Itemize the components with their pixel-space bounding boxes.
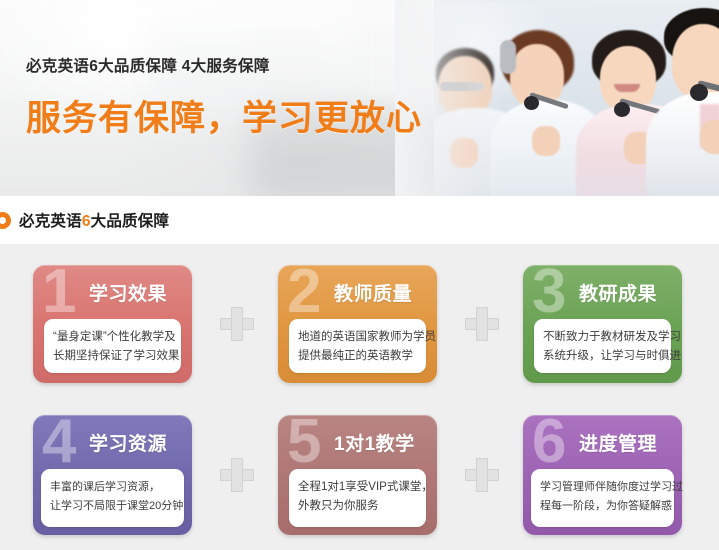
- smile: [614, 84, 640, 92]
- hero-subtitle: 必克英语6大品质保障 4大服务保障: [26, 54, 422, 76]
- page-root: 必克英语6大品质保障 4大服务保障 服务有保障，学习更放心 必克英语6大品质保障…: [0, 0, 719, 550]
- card-body-line-1: 不断致力于教材研发及学习: [543, 328, 662, 347]
- card-body: “量身定课”个性化教学及 长期坚持保证了学习效果: [44, 319, 181, 373]
- card-title: 1对1教学: [334, 429, 415, 456]
- card-body: 地道的英语国家教师为学员 提供最纯正的英语教学: [289, 319, 426, 373]
- section-title: 必克英语6大品质保障: [19, 209, 169, 231]
- card-title: 学习资源: [89, 429, 167, 456]
- card-title: 进度管理: [579, 429, 657, 456]
- plus-icon: [220, 307, 254, 341]
- orange-ring-icon: [0, 212, 11, 229]
- section-title-prefix: 必克英语: [19, 213, 82, 230]
- section-header-row: 必克英语6大品质保障: [0, 209, 169, 231]
- microphone-icon: [690, 84, 708, 101]
- card-title: 教师质量: [334, 279, 412, 306]
- card-body-line-2: 让学习不局限于课堂20分钟: [50, 497, 175, 516]
- card-body-line-2: 提供最纯正的英语教学: [298, 347, 417, 366]
- benefit-card-4[interactable]: 4 学习资源 丰富的课后学习资源， 让学习不局限于课堂20分钟: [33, 415, 192, 535]
- card-number: 1: [42, 261, 76, 323]
- card-number: 6: [532, 411, 566, 473]
- section-header: 必克英语6大品质保障: [0, 196, 719, 244]
- benefit-card-1[interactable]: 1 学习效果 “量身定课”个性化教学及 长期坚持保证了学习效果: [33, 265, 192, 383]
- card-number: 3: [532, 261, 566, 323]
- hero-banner: 必克英语6大品质保障 4大服务保障 服务有保障，学习更放心: [0, 0, 719, 196]
- card-number: 4: [42, 411, 76, 473]
- section-title-number: 6: [82, 213, 91, 230]
- plus-icon: [465, 458, 499, 492]
- card-body-line-2: 系统升级，让学习与时俱进: [543, 347, 662, 366]
- plus-icon: [465, 307, 499, 341]
- hand: [532, 126, 560, 156]
- card-body: 全程1对1享受VIP式课堂， 外教只为你服务: [289, 469, 426, 527]
- card-title: 教研成果: [579, 279, 657, 306]
- hero-text-block: 必克英语6大品质保障 4大服务保障 服务有保障，学习更放心: [26, 54, 422, 141]
- plus-icon: [220, 458, 254, 492]
- microphone-icon: [524, 96, 539, 110]
- benefit-card-3[interactable]: 3 教研成果 不断致力于教材研发及学习 系统升级，让学习与时俱进: [523, 265, 682, 383]
- hero-title: 服务有保障，学习更放心: [26, 90, 422, 141]
- card-body-line-1: 地道的英语国家教师为学员: [298, 328, 417, 347]
- card-body-line-1: 丰富的课后学习资源，: [50, 478, 175, 497]
- benefit-card-2[interactable]: 2 教师质量 地道的英语国家教师为学员 提供最纯正的英语教学: [278, 265, 437, 383]
- card-number: 2: [287, 261, 321, 323]
- card-body: 不断致力于教材研发及学习 系统升级，让学习与时俱进: [534, 319, 671, 373]
- section-title-suffix: 大品质保障: [91, 213, 170, 230]
- card-body-line-2: 长期坚持保证了学习效果: [53, 347, 172, 366]
- card-body-line-1: 全程1对1享受VIP式课堂，: [298, 478, 417, 497]
- card-number: 5: [287, 411, 321, 473]
- hand: [700, 120, 719, 154]
- benefit-card-6[interactable]: 6 进度管理 学习管理师伴随你度过学习过 程每一阶段，为你答疑解惑: [523, 415, 682, 535]
- card-body-line-2: 程每一阶段，为你答疑解惑: [540, 497, 665, 516]
- card-body-line-2: 外教只为你服务: [298, 497, 417, 516]
- photo-person-4: [656, 8, 719, 196]
- microphone-icon: [614, 102, 630, 117]
- card-body: 丰富的课后学习资源， 让学习不局限于课堂20分钟: [41, 469, 184, 527]
- benefit-card-5[interactable]: 5 1对1教学 全程1对1享受VIP式课堂， 外教只为你服务: [278, 415, 437, 535]
- benefits-panel: 1 学习效果 “量身定课”个性化教学及 长期坚持保证了学习效果 2 教师质量 地…: [0, 244, 719, 550]
- card-body-line-1: 学习管理师伴随你度过学习过: [540, 478, 665, 497]
- card-title: 学习效果: [89, 279, 167, 306]
- card-body-line-1: “量身定课”个性化教学及: [53, 328, 172, 347]
- card-body: 学习管理师伴随你度过学习过 程每一阶段，为你答疑解惑: [531, 469, 674, 527]
